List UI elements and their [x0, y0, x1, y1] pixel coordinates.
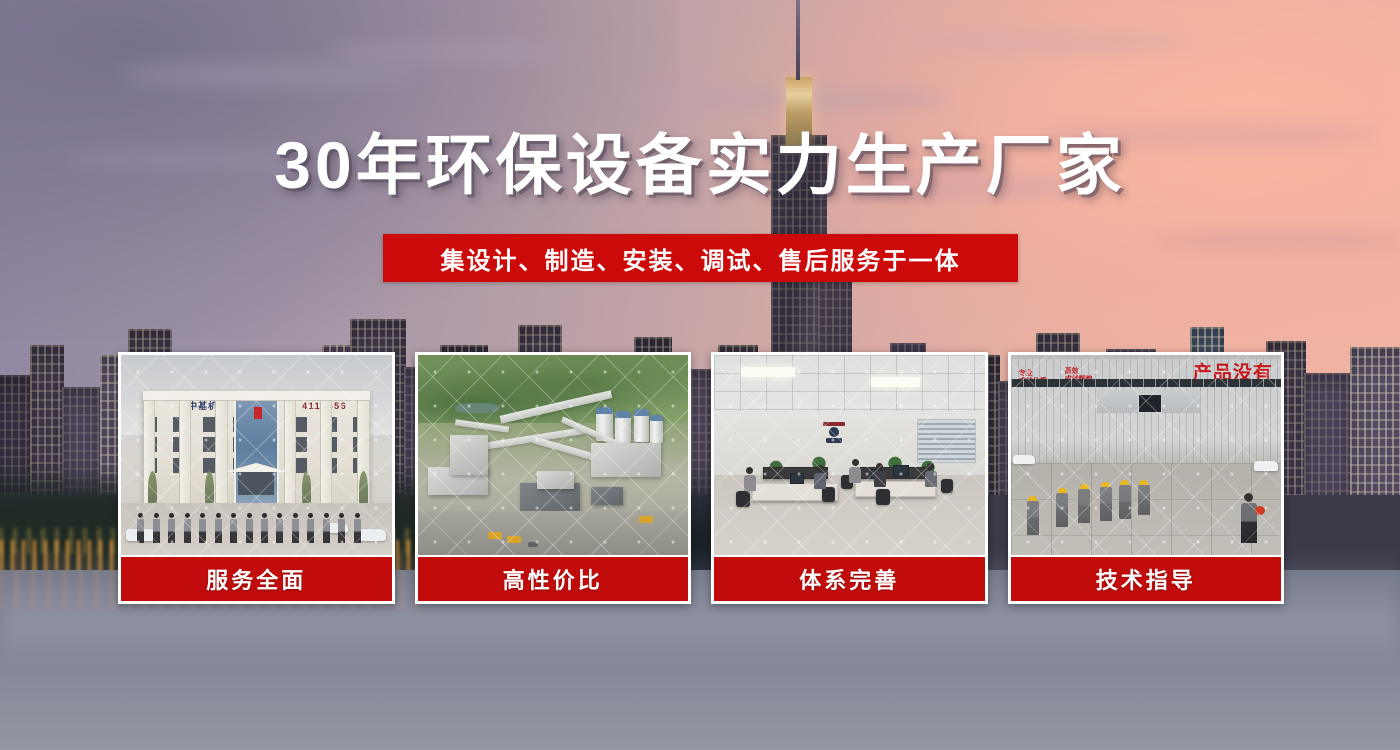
feature-card-row: 中基机械 4113456	[118, 352, 1284, 604]
feature-card[interactable]: 高性价比	[415, 352, 692, 604]
card-label-band: 服务全面	[121, 555, 392, 601]
production-plant-aerial-photo	[418, 355, 689, 555]
card-label-band: 体系完善	[714, 555, 985, 601]
card-label-band: 技术指导	[1011, 555, 1282, 601]
subtitle-banner: 集设计、制造、安装、调试、售后服务于一体	[383, 234, 1018, 282]
card-label-band: 高性价比	[418, 555, 689, 601]
card-label-text: 服务全面	[206, 563, 306, 595]
cloud-shape	[620, 88, 950, 110]
cloud-shape	[900, 30, 1200, 54]
building-phone-number: 4113456	[270, 401, 347, 409]
feature-card[interactable]: 中基机械 4113456	[118, 352, 395, 604]
onsite-technical-training-photo: 产品没有 专业成就品质 高效成就辉煌	[1011, 355, 1282, 555]
company-headquarters-photo: 中基机械 4113456	[121, 355, 392, 555]
feature-card[interactable]: 产品没有 专业成就品质 高效成就辉煌	[1008, 352, 1285, 604]
wall-logo-icon	[817, 421, 851, 447]
cloud-shape	[1150, 230, 1400, 252]
page-title: 30年环保设备实力生产厂家	[0, 132, 1400, 198]
cloud-shape	[120, 62, 420, 88]
card-label-text: 技术指导	[1096, 563, 1196, 595]
office-team-photo	[714, 355, 985, 555]
cloud-shape	[330, 42, 590, 62]
feature-card[interactable]: 体系完善	[711, 352, 988, 604]
tower-spire	[796, 0, 800, 80]
card-label-text: 高性价比	[503, 563, 603, 595]
card-label-text: 体系完善	[799, 563, 899, 595]
promotional-hero-banner: 30年环保设备实力生产厂家 集设计、制造、安装、调试、售后服务于一体 中基机械 …	[0, 0, 1400, 750]
subtitle-text: 集设计、制造、安装、调试、售后服务于一体	[441, 241, 961, 276]
